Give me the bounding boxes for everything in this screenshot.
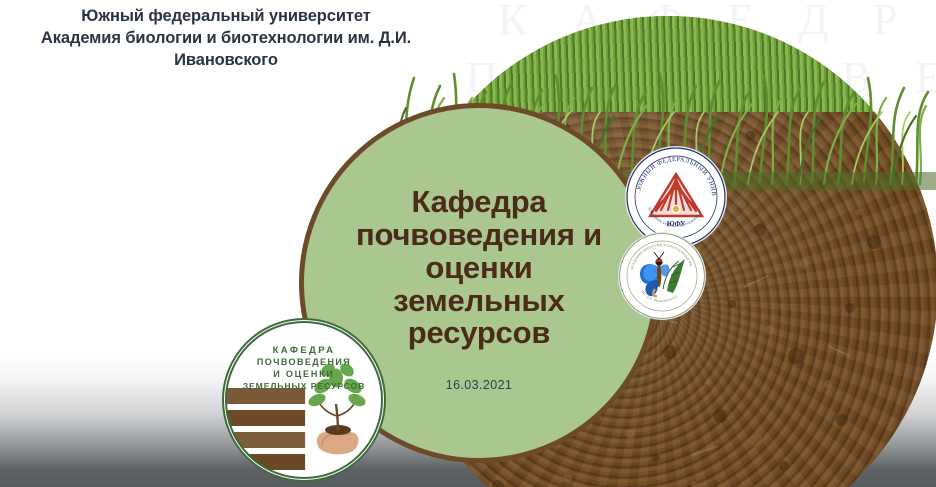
kafedra-line-2: ПОЧВОВЕДЕНИЯ xyxy=(257,357,351,367)
kafedra-line-1: КАФЕДРА xyxy=(273,345,336,356)
kafedra-line-3: И ОЦЕНКИ xyxy=(273,369,334,379)
slide-canvas: К А Ф Е Д Р А П О Ч В О В Е Д Е Н И Я И xyxy=(0,0,936,487)
academy-logo-icon: АКАДЕМИЯ БИОЛОГИИ И БИОТЕХНОЛОГИИ ИМ. Д.… xyxy=(619,233,705,319)
sfedu-logo-icon: ЮЖНЫЙ ФЕДЕРАЛЬНЫЙ УНИВЕРСИТЕТ SOUTHERN F… xyxy=(626,147,726,247)
sfedu-abbr-text: ЮФУ xyxy=(667,220,686,228)
kafedra-line-4: ЗЕМЕЛЬНЫХ РЕСУРСОВ xyxy=(243,381,365,391)
kafedra-logo-icon: КАФЕДРА ПОЧВОВЕДЕНИЯ И ОЦЕНКИ ЗЕМЕЛЬНЫХ … xyxy=(224,320,384,480)
slide-date: 16.03.2021 xyxy=(446,378,513,392)
kafedra-logo-badge: КАФЕДРА ПОЧВОВЕДЕНИЯ И ОЦЕНКИ ЗЕМЕЛЬНЫХ … xyxy=(222,318,386,482)
institution-header: Южный федеральный университет Академия б… xyxy=(0,6,452,72)
sfedu-logo-badge: ЮЖНЫЙ ФЕДЕРАЛЬНЫЙ УНИВЕРСИТЕТ SOUTHERN F… xyxy=(626,147,726,247)
page-title: Кафедра почвоведения и оценки земельных … xyxy=(334,186,624,350)
academy-logo-badge: АКАДЕМИЯ БИОЛОГИИ И БИОТЕХНОЛОГИИ ИМ. Д.… xyxy=(619,233,705,319)
